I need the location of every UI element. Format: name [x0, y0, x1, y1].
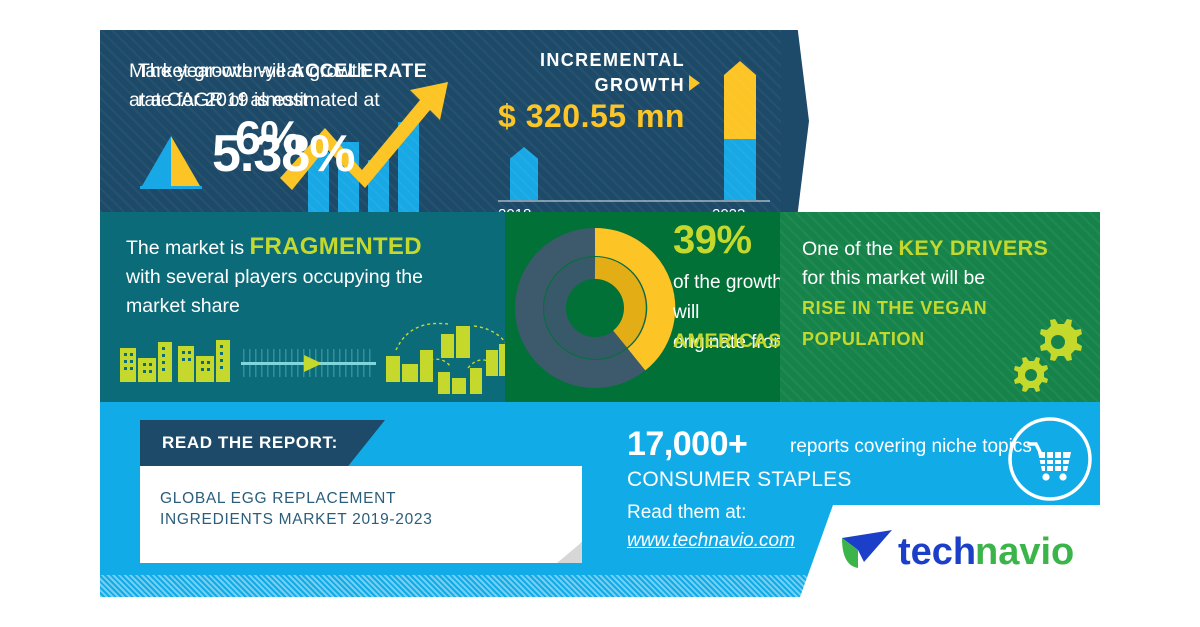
infographic-root: Market growth will ACCELERATE at a CAGR …: [100, 30, 1100, 597]
report-category: CONSUMER STAPLES: [627, 468, 852, 492]
brand-text-navio: navio: [975, 531, 1074, 573]
americas-region-label: AMERICAS: [673, 330, 782, 353]
fragmented-statement: The market is FRAGMENTED with several pl…: [126, 232, 486, 321]
row-top: Market growth will ACCELERATE at a CAGR …: [100, 30, 1100, 212]
report-title-line2: INGREDIENTS MARKET 2019-2023: [160, 511, 433, 528]
yoy-line2: rate for 2019 is estimated at: [138, 89, 380, 111]
americas-line1: of the growth will: [673, 272, 783, 323]
row-footer: READ THE REPORT: GLOBAL EGG REPLACEMENT …: [100, 402, 1100, 597]
footer-dot-pattern: [100, 575, 1100, 597]
read-them-at-label: Read them at:: [627, 502, 746, 524]
fragmented-line1-plain: The market is: [126, 237, 250, 259]
panel-yoy-growth: The year-over-year growth rate for 2019 …: [100, 30, 410, 212]
technavio-url-link[interactable]: www.technavio.com: [627, 530, 795, 552]
panel-fragmented: The market is FRAGMENTED with several pl…: [100, 212, 505, 402]
key-drivers-line1-bold: KEY DRIVERS: [898, 236, 1048, 260]
yoy-line1: The year-over-year growth: [138, 60, 368, 82]
reports-count: 17,000+: [627, 425, 747, 464]
report-card[interactable]: GLOBAL EGG REPLACEMENT INGREDIENTS MARKE…: [140, 466, 582, 563]
city-fragmentation-icon: [108, 322, 508, 400]
yoy-value: 5.38%: [212, 124, 354, 184]
yoy-statement: The year-over-year growth rate for 2019 …: [138, 57, 388, 115]
row-middle: The market is FRAGMENTED with several pl…: [100, 212, 1100, 402]
report-title: GLOBAL EGG REPLACEMENT INGREDIENTS MARKE…: [160, 488, 433, 530]
growth-triangle-icon: [140, 134, 202, 190]
read-the-report-label: READ THE REPORT:: [162, 433, 338, 453]
technavio-logo: tech navio: [840, 524, 1080, 576]
panel-americas: 39% of the growth will originate from AM…: [505, 212, 780, 402]
read-the-report-ribbon: READ THE REPORT:: [140, 420, 385, 466]
gears-icon: [1000, 314, 1086, 392]
brand-text-tech: tech: [898, 531, 976, 573]
key-drivers-line3: RISE IN THE VEGAN: [802, 298, 987, 318]
key-drivers-line1-plain: One of the: [802, 238, 898, 260]
reports-caption: reports covering niche topics: [790, 436, 1032, 458]
key-drivers-line4: POPULATION: [802, 329, 925, 349]
panel-key-drivers: One of the KEY DRIVERS for this market w…: [780, 212, 1100, 402]
report-title-line1: GLOBAL EGG REPLACEMENT: [160, 490, 396, 507]
fragmented-line3: market share: [126, 295, 240, 317]
americas-donut-chart: [505, 218, 685, 398]
fragmented-line2: with several players occupying the: [126, 266, 423, 288]
fragmented-line1-bold: FRAGMENTED: [250, 233, 422, 260]
key-drivers-line2: for this market will be: [802, 267, 985, 289]
shopping-cart-icon[interactable]: [1005, 414, 1095, 504]
americas-percent: 39%: [673, 218, 752, 263]
